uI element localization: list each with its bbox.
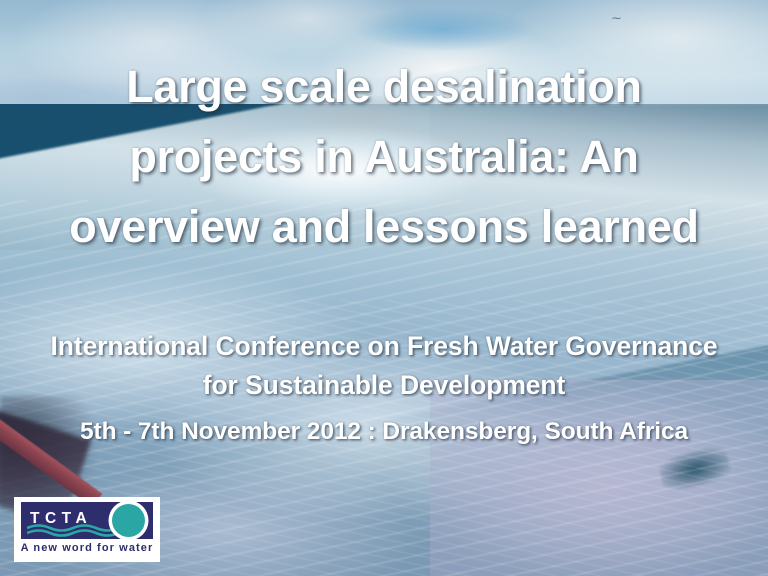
- tcta-logo: TCTA A new word for water: [14, 497, 160, 562]
- logo-panel: TCTA: [21, 502, 153, 539]
- slide-date-location: 5th - 7th November 2012 : Drakensberg, S…: [40, 414, 728, 450]
- text-layer: Large scale desalination projects in Aus…: [0, 0, 768, 576]
- logo-circle-icon: [112, 504, 145, 537]
- slide-title: Large scale desalination projects in Aus…: [40, 52, 728, 262]
- presentation-slide: ⁓ Large scale desalination projects in A…: [0, 0, 768, 576]
- logo-waves-icon: [27, 524, 119, 537]
- logo-tagline: A new word for water: [14, 541, 160, 555]
- slide-subtitle: International Conference on Fresh Water …: [40, 327, 728, 405]
